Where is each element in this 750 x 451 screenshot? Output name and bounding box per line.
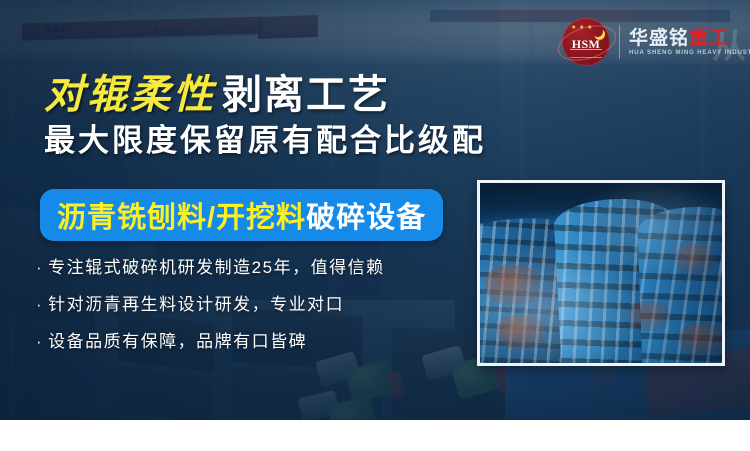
- hero-banner: 河南矿山 50/10t: [0, 0, 750, 420]
- list-item: · 专注辊式破碎机研发制造25年，值得信赖: [36, 258, 385, 278]
- headline-block: 对辊柔性剥离工艺 最大限度保留原有配合比级配: [44, 72, 486, 160]
- pill-accent-text: 沥青铣刨料/开挖料: [57, 194, 306, 236]
- logo-wave-lines: [570, 49, 602, 58]
- company-name-en: HUA SHENG MING HEAVY INDUSTRY: [629, 50, 750, 56]
- logo-wordmark: 华盛铭重工 HUA SHENG MING HEAVY INDUSTRY: [629, 28, 750, 56]
- pill-plain-text: 破碎设备: [306, 194, 426, 236]
- banner-page: 河南矿山 50/10t: [0, 0, 750, 451]
- photo-vignette: [480, 183, 722, 363]
- list-item-label: 专注辊式破碎机研发制造25年，值得信赖: [48, 258, 384, 278]
- company-logo[interactable]: ★ ★ ★ HSM 华盛铭重工 HUA SHENG MING HEAVY IND…: [562, 18, 750, 66]
- headline-line-1: 对辊柔性剥离工艺: [44, 72, 486, 118]
- hsm-logo-icon: ★ ★ ★ HSM: [562, 18, 610, 66]
- product-photo[interactable]: [477, 180, 725, 366]
- selling-points-list: · 专注辊式破碎机研发制造25年，值得信赖 · 针对沥青再生料设计研发，专业对口…: [36, 258, 385, 369]
- stars-icon: ★ ★ ★: [571, 25, 593, 31]
- company-name-cn: 华盛铭重工: [629, 28, 750, 49]
- headline-accent: 对辊柔性: [44, 71, 222, 118]
- headline-line-2: 最大限度保留原有配合比级配: [44, 122, 486, 160]
- product-photo-inner: [480, 183, 722, 363]
- list-item: · 设备品质有保障，品牌有口皆碑: [36, 332, 385, 352]
- product-category-pill[interactable]: 沥青铣刨料/开挖料破碎设备: [40, 189, 443, 241]
- bullet-dot-icon: ·: [36, 258, 43, 278]
- logo-divider: [619, 25, 620, 59]
- company-name-primary: 华盛铭: [629, 28, 689, 49]
- bullet-dot-icon: ·: [36, 295, 43, 315]
- headline-rest: 剥离工艺: [222, 72, 390, 118]
- company-name-accent: 重工: [689, 28, 729, 49]
- list-item: · 针对沥青再生料设计研发，专业对口: [36, 295, 385, 315]
- bullet-dot-icon: ·: [36, 332, 43, 352]
- list-item-label: 设备品质有保障，品牌有口皆碑: [48, 332, 307, 352]
- list-item-label: 针对沥青再生料设计研发，专业对口: [48, 295, 344, 315]
